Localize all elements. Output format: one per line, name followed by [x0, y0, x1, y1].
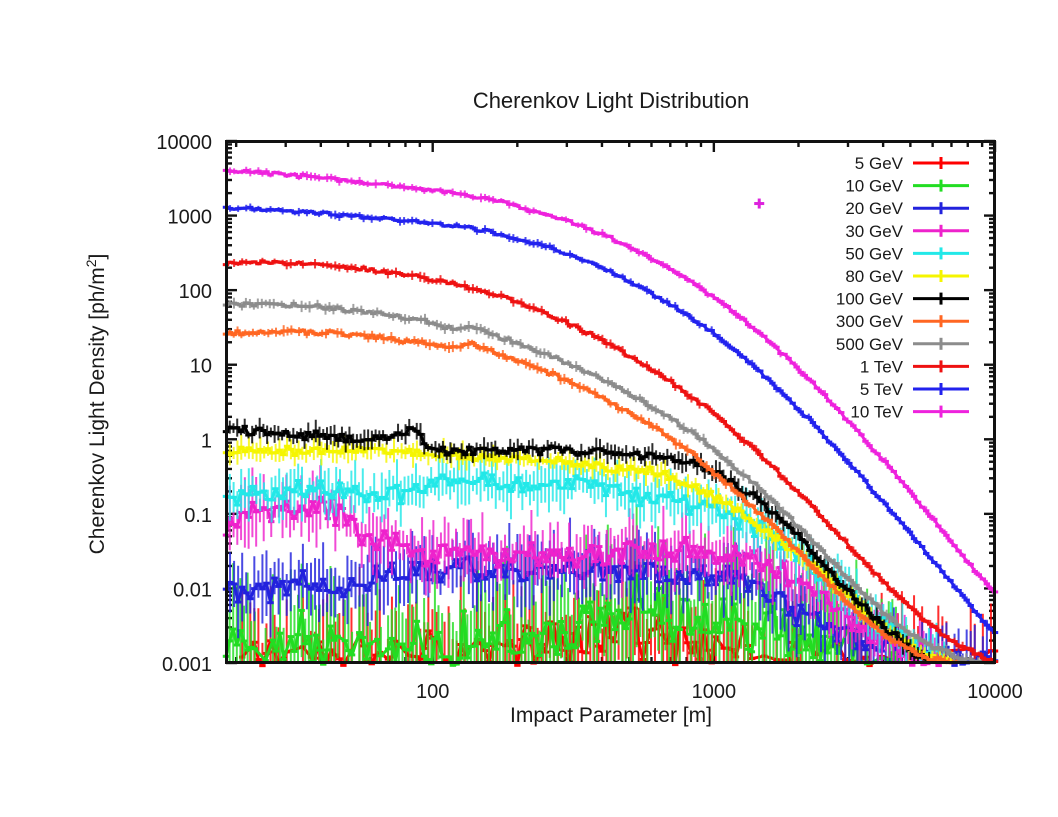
series-segment [764, 519, 768, 520]
series-segment [783, 512, 787, 514]
series-segment [489, 333, 493, 335]
series-segment [361, 335, 365, 336]
series-segment [268, 332, 272, 334]
series-segment [275, 433, 279, 434]
series-segment [437, 345, 441, 346]
series-segment [791, 546, 795, 548]
series-segment [413, 429, 417, 432]
series-segment [510, 448, 514, 450]
series-segment [413, 319, 417, 320]
series-segment [517, 342, 521, 343]
series-segment [657, 474, 661, 476]
series-segment [322, 307, 326, 309]
series-segment [585, 453, 589, 454]
series-segment [432, 448, 436, 449]
series-segment [311, 331, 315, 333]
series-segment [659, 495, 663, 496]
y-axis-label: Cherenkov Light Density [ph/m2] [83, 254, 109, 555]
series-segment [551, 446, 555, 448]
series-segment [561, 379, 565, 380]
series-segment [672, 419, 676, 420]
series-segment [518, 361, 522, 362]
x-tick-label: 1000 [692, 681, 737, 703]
series-segment [507, 358, 511, 359]
series-segment [349, 309, 353, 311]
series-segment [391, 338, 395, 340]
series-segment [325, 493, 329, 495]
series-segment [709, 632, 713, 633]
series-segment [795, 525, 799, 527]
y-tick-label: 1 [201, 430, 212, 452]
series-segment [454, 449, 458, 450]
series-segment [703, 464, 707, 466]
y-tick-label: 100 [179, 281, 212, 303]
series-segment [858, 603, 862, 605]
series-segment [618, 409, 622, 410]
series-segment [596, 463, 600, 464]
series-segment [637, 418, 641, 419]
series-segment [588, 372, 592, 374]
series-segment [391, 435, 395, 437]
series-segment [282, 304, 286, 306]
series-segment [465, 481, 469, 482]
series-segment [441, 345, 445, 347]
series-segment [521, 580, 525, 581]
series-segment [532, 349, 536, 351]
series-segment [256, 492, 260, 494]
series-segment [805, 613, 809, 614]
series-segment [430, 344, 434, 345]
x-axis-label: Impact Parameter [m] [510, 704, 712, 727]
series-segment [437, 325, 441, 326]
cherenkov-light-distribution-chart: Cherenkov Light Distribution Cherenkov L… [0, 0, 1058, 817]
series-segment [583, 480, 587, 481]
series-segment [531, 461, 535, 462]
series-segment [937, 658, 941, 660]
series-segment [530, 365, 534, 367]
series-segment [668, 437, 672, 439]
series-segment [473, 481, 477, 483]
series-segment [687, 450, 691, 451]
series-segment [480, 347, 484, 348]
series-segment [295, 331, 299, 332]
series-segment [465, 326, 469, 327]
series-segment [511, 651, 515, 653]
series-segment [934, 658, 938, 660]
series-segment [457, 328, 461, 329]
series-segment [453, 664, 457, 665]
series-segment [361, 440, 365, 441]
series-segment [737, 493, 741, 495]
series-segment [353, 309, 357, 310]
series-segment [621, 493, 625, 495]
series-segment [414, 340, 418, 342]
series-segment [608, 382, 612, 384]
series-segment [381, 313, 385, 315]
series-segment [743, 475, 747, 476]
series-segment [532, 633, 536, 635]
series-segment [337, 307, 341, 309]
y-tick-label: 0.01 [173, 579, 212, 601]
series-segment [623, 565, 627, 567]
series-segment [501, 339, 505, 340]
series-segment [409, 428, 413, 429]
series-segment [433, 323, 437, 325]
series-segment [708, 445, 712, 447]
series-segment [484, 347, 488, 349]
series-segment [261, 331, 265, 333]
series-segment [526, 363, 530, 365]
series-segment [534, 367, 538, 368]
series-segment [616, 387, 620, 388]
series-segment [941, 659, 945, 661]
series-segment [230, 453, 234, 455]
series-segment [745, 518, 749, 519]
series-segment [700, 439, 704, 440]
series-segment [579, 479, 583, 480]
series-segment [245, 333, 249, 334]
series-segment [401, 318, 405, 319]
series-segment [660, 457, 664, 459]
series-segment [543, 461, 547, 462]
series-segment [626, 454, 630, 455]
series-segment [399, 545, 403, 546]
series-segment [511, 358, 515, 360]
series-segment [688, 486, 692, 487]
series-segment [280, 331, 284, 333]
series-segment [633, 545, 637, 547]
series-segment [500, 487, 504, 489]
series-segment [257, 331, 261, 333]
series-segment [624, 391, 628, 392]
series-segment [520, 458, 524, 459]
series-segment [428, 448, 432, 449]
series-segment [664, 435, 668, 437]
series-segment [514, 652, 521, 653]
series-segment [260, 428, 264, 430]
series-segment [276, 332, 280, 333]
series-segment [251, 647, 255, 648]
series-segment [234, 303, 238, 304]
series-segment [907, 648, 911, 649]
series-segment [664, 457, 668, 458]
series-segment [348, 451, 352, 452]
series-segment [291, 330, 295, 331]
series-segment [395, 340, 399, 341]
series-segment [541, 484, 545, 485]
series-segment [648, 406, 652, 408]
series-segment [564, 379, 568, 380]
series-segment [580, 557, 584, 559]
series-segment [310, 306, 314, 307]
series-segment [615, 453, 619, 455]
x-tick-label: 10000 [967, 681, 1023, 703]
series-segment [369, 312, 373, 314]
series-segment [373, 312, 377, 314]
series-segment [572, 383, 576, 384]
series-segment [241, 333, 245, 335]
series-segment [891, 640, 895, 642]
series-segment [645, 422, 649, 423]
series-segment [722, 503, 726, 504]
series-segment [581, 453, 585, 454]
series-segment [407, 340, 411, 342]
series-segment [306, 306, 310, 307]
series-segment [839, 585, 843, 587]
series-segment [377, 312, 381, 313]
x-tick-label: 100 [416, 681, 449, 703]
series-segment [266, 303, 270, 304]
series-segment [709, 551, 713, 553]
series-segment [473, 327, 477, 328]
series-segment [495, 353, 499, 355]
series-segment [619, 453, 623, 455]
series-segment [714, 475, 718, 476]
series-segment [641, 457, 645, 459]
series-segment [535, 460, 539, 461]
series-segment [737, 619, 741, 621]
series-segment [536, 352, 540, 354]
series-segment [447, 453, 451, 455]
series-segment [632, 396, 636, 398]
series-segment [394, 450, 398, 451]
series-segment [603, 564, 607, 565]
y-tick-label: 10 [190, 356, 212, 378]
series-segment [434, 344, 438, 346]
series-segment [426, 344, 430, 345]
series-segment [564, 363, 568, 364]
series-segment [749, 505, 753, 506]
series-segment [345, 336, 349, 337]
series-segment [757, 512, 761, 513]
y-tick-label: 10000 [156, 132, 212, 154]
series-segment [513, 569, 517, 570]
series-segment [630, 454, 634, 455]
series-segment [926, 658, 930, 660]
series-segment [739, 473, 743, 475]
series-segment [547, 623, 551, 624]
series-segment [610, 486, 614, 487]
series-segment [591, 392, 595, 393]
series-segment [287, 488, 291, 490]
y-tick-label: 1000 [168, 207, 213, 229]
series-segment [837, 593, 841, 595]
chart-page: Cherenkov Light Distribution Cherenkov L… [0, 0, 1058, 817]
y-tick-label: 0.1 [184, 505, 212, 527]
series-segment [752, 581, 756, 582]
series-segment [359, 494, 363, 496]
series-segment [761, 502, 765, 504]
series-segment [767, 497, 771, 499]
series-segment [549, 372, 553, 374]
series-segment [566, 448, 570, 449]
series-segment [678, 499, 682, 501]
y-axis-label-superscript: 2 [83, 259, 99, 267]
series-segment [584, 388, 588, 389]
series-segment [230, 427, 234, 428]
series-segment [636, 398, 640, 399]
series-segment [484, 448, 488, 450]
series-segment [533, 448, 537, 449]
series-segment [254, 304, 258, 306]
series-segment [553, 372, 557, 374]
series-segment [271, 432, 275, 434]
series-segment [387, 437, 391, 439]
series-segment [314, 333, 318, 334]
series-segment [389, 315, 393, 316]
series-segment [353, 441, 357, 442]
series-segment [349, 334, 353, 336]
series-segment [329, 451, 333, 452]
series-segment [537, 368, 541, 370]
series-segment [398, 433, 402, 435]
series-segment [396, 578, 400, 579]
series-segment [476, 346, 480, 349]
series-segment [751, 482, 755, 483]
series-segment [784, 537, 788, 539]
series-segment [593, 449, 597, 450]
series-segment [922, 655, 926, 657]
series-segment [474, 459, 478, 461]
series-segment [272, 332, 276, 333]
series-segment [592, 374, 596, 375]
series-segment [334, 332, 338, 333]
series-segment [408, 489, 412, 490]
series-segment [872, 625, 876, 627]
series-segment [768, 512, 772, 513]
series-segment [918, 655, 922, 656]
series-segment [657, 427, 661, 430]
series-segment [288, 330, 292, 331]
series-segment [333, 451, 337, 452]
series-segment [652, 408, 656, 410]
series-segment [458, 450, 462, 451]
series-segment [573, 464, 577, 466]
series-segment [828, 570, 832, 572]
series-segment [327, 591, 331, 593]
series-segment [253, 333, 257, 334]
series-segment [469, 326, 473, 327]
series-segment [330, 331, 334, 332]
series-segment [449, 347, 453, 348]
series-segment [461, 345, 465, 347]
series-segment [847, 589, 851, 590]
series-segment [830, 585, 834, 586]
series-segment [409, 319, 413, 320]
series-segment [514, 449, 518, 450]
chart-title: Cherenkov Light Distribution [473, 88, 749, 113]
series-segment [576, 385, 580, 387]
series-segment [600, 449, 604, 451]
series-segment [249, 333, 253, 334]
series-segment [267, 432, 271, 434]
series-segment [400, 578, 404, 579]
series-segment [552, 357, 556, 358]
series-segment [462, 479, 466, 481]
series-segment [318, 333, 322, 334]
series-segment [833, 609, 837, 611]
series-segment [674, 501, 678, 502]
series-segment [514, 360, 518, 362]
y-tick-label: 0.001 [162, 654, 212, 676]
y-axis-label-tail: ] [86, 254, 109, 260]
series-segment [576, 366, 580, 368]
series-segment [656, 410, 660, 412]
series-segment [513, 342, 517, 343]
series-segment [246, 303, 250, 304]
series-segment [386, 453, 390, 454]
series-segment [544, 448, 548, 449]
series-segment [522, 361, 526, 363]
series-segment [679, 461, 683, 464]
y-axis-label-text: Cherenkov Light Density [ph/m [86, 267, 109, 554]
series-segment [802, 540, 806, 542]
series-segment [306, 451, 310, 453]
series-segment [684, 428, 688, 430]
series-segment [667, 580, 671, 581]
series-segment [230, 582, 234, 584]
series-segment [481, 329, 485, 331]
series-segment [385, 315, 389, 316]
series-segment [649, 453, 653, 454]
series-segment [761, 530, 765, 531]
series-segment [469, 482, 473, 483]
series-segment [653, 427, 657, 428]
